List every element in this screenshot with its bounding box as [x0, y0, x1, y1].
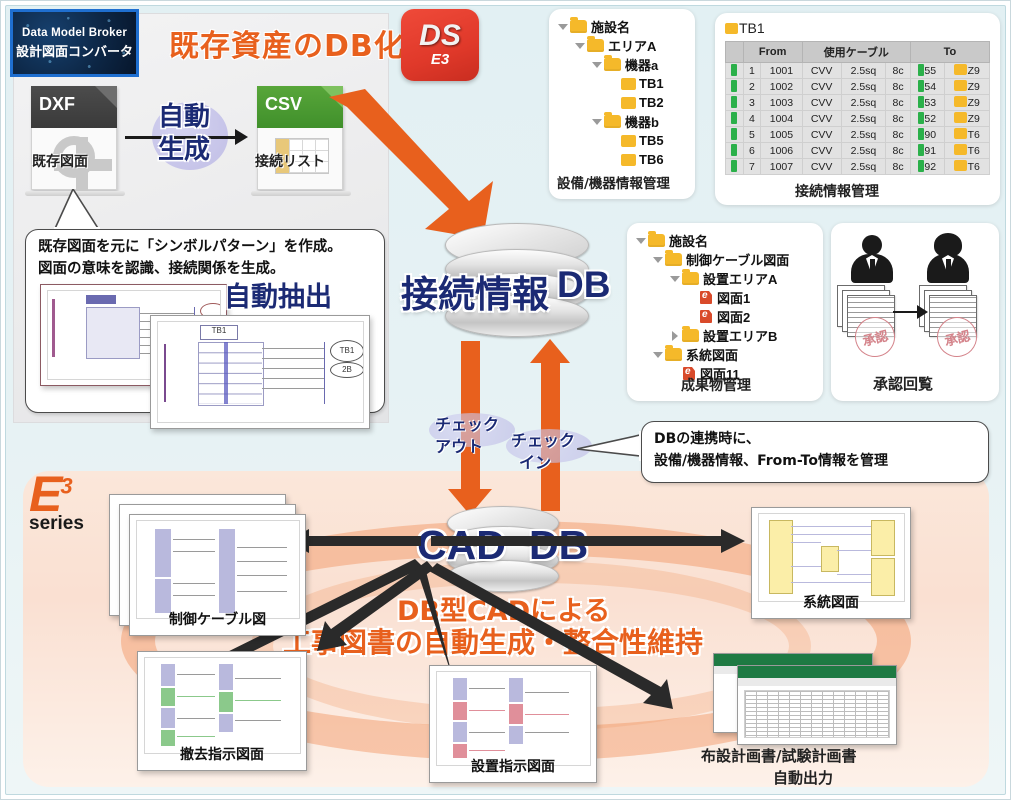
- tag-icon: [621, 135, 636, 147]
- cell-to: T6: [944, 143, 989, 159]
- checkin-arrow-head: [530, 339, 570, 363]
- connection-list-label: 接続リスト: [255, 151, 325, 171]
- tag-icon: [621, 78, 636, 90]
- folder-icon: [665, 253, 682, 266]
- system-diagram[interactable]: 系統図面: [751, 507, 911, 619]
- table-title-row: TB1: [725, 20, 765, 36]
- auto-extract-label: 自動抽出: [224, 275, 332, 314]
- person-head: [862, 235, 882, 255]
- cell-no: 4: [743, 111, 761, 127]
- table-row[interactable]: 71007CVV2.5sq8c92T6: [726, 159, 990, 175]
- tree-node-label: TB6: [639, 152, 664, 167]
- cell-to-no: 91: [910, 143, 944, 159]
- cell-to: T6: [944, 159, 989, 175]
- table-title: TB1: [739, 20, 765, 36]
- table-row[interactable]: 11001CVV2.5sq8c55Z9: [726, 63, 990, 79]
- tree-node[interactable]: 図面1: [635, 288, 789, 307]
- symbol-thumb-front: TB1 TB1 2B: [150, 315, 370, 429]
- cell-to-no: 54: [910, 79, 944, 95]
- cell-size: 2.5sq: [841, 159, 886, 175]
- status-chip: [918, 144, 924, 156]
- folder-icon: [587, 39, 604, 52]
- tree-node-label: 施設名: [669, 231, 708, 250]
- table-row[interactable]: 21002CVV2.5sq8c54Z9: [726, 79, 990, 95]
- equipment-tree-card: 施設名エリアA機器aTB1TB2機器bTB5TB6 設備/機器情報管理: [549, 9, 695, 199]
- cell-from: 1007: [761, 159, 802, 175]
- thumb-circle-label: TB1: [330, 340, 364, 362]
- tree-node[interactable]: TB2: [557, 93, 664, 112]
- approval-flow-head: [917, 305, 928, 319]
- ds-e3-logo: DS E3: [401, 9, 479, 81]
- control-cable-drawing-label: 制御ケーブル図: [130, 609, 305, 629]
- cell-to-no: 53: [910, 95, 944, 111]
- drawing-icon: [699, 310, 713, 323]
- status-chip: [918, 160, 924, 172]
- tree-node-label: 機器a: [625, 55, 658, 74]
- cell-to-no: 52: [910, 111, 944, 127]
- dxf-file-icon: DXF: [31, 86, 117, 190]
- tree-spacer: [608, 154, 619, 165]
- cell-from: 1001: [761, 63, 802, 79]
- chevron-open-icon[interactable]: [652, 349, 663, 360]
- table-header-row: From使用ケーブルTo: [726, 42, 990, 63]
- cell-cable: CVV: [802, 159, 841, 175]
- connection-table-card: TB1 From使用ケーブルTo11001CVV2.5sq8c55Z921002…: [715, 13, 1000, 205]
- status-chip: [918, 128, 924, 140]
- status-chip: [731, 96, 737, 108]
- chevron-open-icon[interactable]: [591, 116, 602, 127]
- cell-no: 3: [743, 95, 761, 111]
- person-tie: [946, 259, 951, 272]
- folder-icon: [570, 20, 587, 33]
- callout-line-1: 既存図面を元に「シンボルパターン」を作成。: [38, 238, 342, 258]
- tree-node-label: TB1: [639, 76, 664, 91]
- removal-instruction-drawing-label: 撤去指示図面: [138, 744, 306, 764]
- status-chip: [731, 64, 737, 76]
- cell-cable: CVV: [802, 111, 841, 127]
- cell-size: 2.5sq: [841, 127, 886, 143]
- tree-node-label: TB5: [639, 133, 664, 148]
- approver-female-icon: [925, 235, 971, 283]
- tag-icon: [954, 80, 967, 91]
- cell-size: 2.5sq: [841, 79, 886, 95]
- tree-spacer: [669, 368, 680, 379]
- person-head: [938, 235, 958, 255]
- table-row[interactable]: 41004CVV2.5sq8c52Z9: [726, 111, 990, 127]
- cell-cores: 8c: [886, 127, 911, 143]
- tag-icon: [954, 96, 967, 107]
- drawing-icon: [699, 291, 713, 304]
- cell-no: 5: [743, 127, 761, 143]
- cell-cores: 8c: [886, 159, 911, 175]
- tag-icon: [954, 64, 967, 75]
- column-header: To: [910, 42, 989, 63]
- tree-node[interactable]: 機器b: [557, 112, 664, 131]
- folder-icon: [665, 348, 682, 361]
- tree-node[interactable]: 系統図面: [635, 345, 789, 364]
- tree-node-label: 系統図面: [686, 345, 738, 364]
- tree-node[interactable]: 施設名: [557, 17, 664, 36]
- equipment-tree[interactable]: 施設名エリアA機器aTB1TB2機器bTB5TB6: [557, 17, 664, 169]
- connection-info-db-label-right: DB: [557, 264, 610, 306]
- row-status-cell: [726, 63, 744, 79]
- tree-spacer: [608, 97, 619, 108]
- tree-node[interactable]: TB1: [557, 74, 664, 93]
- tree-node[interactable]: 施設名: [635, 231, 789, 250]
- callout-pointer-symbol: [51, 189, 121, 234]
- tree-node-label: 図面2: [717, 307, 750, 326]
- chevron-open-icon[interactable]: [591, 59, 602, 70]
- cell-size: 2.5sq: [841, 63, 886, 79]
- cell-to: Z9: [944, 79, 989, 95]
- ds-logo-text: DS: [419, 22, 461, 51]
- cell-to-no: 90: [910, 127, 944, 143]
- approval-caption: 承認回覧: [873, 373, 933, 394]
- auto-label-line2: 生成: [158, 129, 210, 166]
- cell-cores: 8c: [886, 111, 911, 127]
- thumb-canvas: [136, 520, 300, 619]
- existing-drawing-label: 既存図面: [32, 151, 88, 171]
- tree-node-label: TB2: [639, 95, 664, 110]
- system-diagram-label: 系統図面: [752, 592, 910, 612]
- thumb-canvas: [758, 513, 905, 602]
- cell-cable: CVV: [802, 63, 841, 79]
- tag-icon: [725, 23, 738, 34]
- tree-spacer: [608, 78, 619, 89]
- tree-node-label: 図面1: [717, 288, 750, 307]
- cell-from: 1003: [761, 95, 802, 111]
- flow-arrow-head: [235, 129, 248, 145]
- tree-node-label: 設置エリアA: [703, 269, 777, 288]
- folder-icon: [604, 58, 621, 71]
- cell-to-no: 55: [910, 63, 944, 79]
- cell-to-no: 92: [910, 159, 944, 175]
- cell-cores: 8c: [886, 63, 911, 79]
- db-callout-line2: 設備/機器情報、From-To情報を管理: [654, 452, 888, 471]
- chevron-open-icon[interactable]: [635, 235, 646, 246]
- tree-node[interactable]: 設置エリアA: [635, 269, 789, 288]
- checkout-label-line2: アウト: [435, 433, 483, 457]
- thumb-circle-sub: 2B: [330, 362, 364, 378]
- person-tie: [870, 259, 875, 272]
- status-chip: [918, 96, 924, 108]
- cell-cable: CVV: [802, 79, 841, 95]
- status-chip: [731, 80, 737, 92]
- status-chip: [731, 112, 737, 124]
- cell-to: T6: [944, 127, 989, 143]
- tree-node-label: 施設名: [591, 17, 630, 36]
- installation-instruction-drawing-label: 設置指示図面: [430, 756, 596, 776]
- folder-icon: [682, 329, 699, 342]
- status-chip: [918, 80, 924, 92]
- tag-icon: [954, 112, 967, 123]
- tag-icon: [954, 144, 967, 155]
- approval-flow-line: [893, 311, 919, 313]
- tree-spacer: [686, 311, 697, 322]
- cell-size: 2.5sq: [841, 95, 886, 111]
- checkin-label-line1: チェック: [511, 427, 575, 451]
- orange-arrow-to-db: [321, 89, 521, 239]
- cell-from: 1005: [761, 127, 802, 143]
- db-linkage-callout: DBの連携時に、 設備/機器情報、From-To情報を管理: [641, 421, 989, 483]
- symbol-pattern-callout: 既存図面を元に「シンボルパターン」を作成。 図面の意味を認識、接続関係を生成。 …: [25, 229, 385, 413]
- logo-title-en: Data Model Broker: [22, 27, 127, 39]
- cell-size: 2.5sq: [841, 143, 886, 159]
- cell-from: 1006: [761, 143, 802, 159]
- status-chip: [731, 160, 737, 172]
- cell-cable: CVV: [802, 127, 841, 143]
- row-status-cell: [726, 111, 744, 127]
- cell-cable: CVV: [802, 143, 841, 159]
- row-status-cell: [726, 159, 744, 175]
- connection-table[interactable]: From使用ケーブルTo11001CVV2.5sq8c55Z921002CVV2…: [725, 41, 990, 175]
- laying-test-plan[interactable]: [737, 665, 897, 745]
- checkin-label-line2: イン: [519, 449, 551, 473]
- control-cable-drawing[interactable]: 制御ケーブル図: [129, 514, 306, 636]
- logo-title-jp: 設計図面コンバータ: [16, 41, 133, 60]
- table-row[interactable]: 61006CVV2.5sq8c91T6: [726, 143, 990, 159]
- spreadsheet-grid: [744, 690, 890, 738]
- auto-label-line1: 自動: [158, 96, 210, 133]
- deliverable-tree-caption: 成果物管理: [681, 375, 751, 395]
- laying-test-plan-label-line2: 自動出力: [773, 767, 833, 788]
- approval-card: 承認 承認 承認回覧: [831, 223, 999, 401]
- cell-cores: 8c: [886, 79, 911, 95]
- column-header: 使用ケーブル: [802, 42, 910, 63]
- status-chip: [918, 112, 924, 124]
- row-status-cell: [726, 95, 744, 111]
- tree-node[interactable]: 制御ケーブル図面: [635, 250, 789, 269]
- cell-no: 6: [743, 143, 761, 159]
- cell-cable: CVV: [802, 95, 841, 111]
- row-status-cell: [726, 127, 744, 143]
- cell-to: Z9: [944, 95, 989, 111]
- thumb-tb-label: TB1: [200, 325, 238, 340]
- chevron-open-icon[interactable]: [652, 254, 663, 265]
- tree-node-label: 機器b: [625, 112, 659, 131]
- table-row[interactable]: 51005CVV2.5sq8c90T6: [726, 127, 990, 143]
- cell-no: 2: [743, 79, 761, 95]
- dxf-label: DXF: [39, 94, 75, 115]
- chevron-closed-icon[interactable]: [669, 330, 680, 341]
- cell-size: 2.5sq: [841, 111, 886, 127]
- cell-from: 1002: [761, 79, 802, 95]
- cell-cores: 8c: [886, 95, 911, 111]
- removal-instruction-drawing[interactable]: 撤去指示図面: [137, 651, 307, 771]
- connection-info-db-label-left: 接続情報: [401, 264, 549, 318]
- connection-table-caption: 接続情報管理: [795, 181, 879, 201]
- chevron-open-icon[interactable]: [557, 21, 568, 32]
- deliverable-tree-card: 施設名制御ケーブル図面設置エリアA図面1図面2設置エリアB系統図面図面11 成果…: [627, 223, 823, 401]
- tag-icon: [954, 128, 967, 139]
- tree-spacer: [686, 292, 697, 303]
- db-callout-line1: DBの連携時に、: [654, 430, 760, 449]
- tag-icon: [621, 97, 636, 109]
- tree-node[interactable]: エリアA: [557, 36, 664, 55]
- status-chip: [918, 64, 924, 76]
- laying-test-plan-label-line1: 布設計画書/試験計画書: [701, 745, 856, 766]
- thumb-canvas: [436, 671, 591, 766]
- chevron-open-icon[interactable]: [574, 40, 585, 51]
- folder-icon: [604, 115, 621, 128]
- column-header: [726, 42, 744, 63]
- status-chip: [731, 144, 737, 156]
- status-chip: [731, 128, 737, 140]
- installation-instruction-drawing[interactable]: 設置指示図面: [429, 665, 597, 783]
- tree-spacer: [608, 135, 619, 146]
- tree-node-label: 制御ケーブル図面: [686, 250, 789, 269]
- page-title: 既存資産のDB化: [169, 21, 405, 65]
- cell-to: Z9: [944, 111, 989, 127]
- csv-label: CSV: [265, 94, 302, 115]
- deliverable-tree[interactable]: 施設名制御ケーブル図面設置エリアA図面1図面2設置エリアB系統図面図面11: [635, 231, 789, 383]
- cell-cores: 8c: [886, 143, 911, 159]
- folder-icon: [682, 272, 699, 285]
- approver-male-icon: [849, 235, 895, 283]
- tree-node[interactable]: TB5: [557, 131, 664, 150]
- column-header: From: [743, 42, 802, 63]
- row-status-cell: [726, 143, 744, 159]
- tree-node-label: 設置エリアB: [703, 326, 777, 345]
- checkout-label-line1: チェック: [435, 411, 499, 435]
- tree-node[interactable]: 機器a: [557, 55, 664, 74]
- tree-node[interactable]: 図面2: [635, 307, 789, 326]
- tag-icon: [954, 160, 967, 171]
- cell-to: Z9: [944, 63, 989, 79]
- thumb-canvas: [144, 657, 301, 754]
- cell-no: 7: [743, 159, 761, 175]
- tree-node[interactable]: TB6: [557, 150, 664, 169]
- diagram-canvas: Data Model Broker 設計図面コンバータ 既存資産のDB化 DS …: [0, 0, 1011, 800]
- row-status-cell: [726, 79, 744, 95]
- e3-logo-text: E3: [431, 51, 449, 68]
- folder-icon: [648, 234, 665, 247]
- tag-icon: [621, 154, 636, 166]
- equipment-tree-caption: 設備/機器情報管理: [557, 172, 670, 192]
- data-model-broker-logo: Data Model Broker 設計図面コンバータ: [10, 9, 139, 77]
- cell-from: 1004: [761, 111, 802, 127]
- chevron-open-icon[interactable]: [669, 273, 680, 284]
- tree-node-label: エリアA: [608, 36, 656, 55]
- thumb-canvas: TB1 TB1 2B: [157, 321, 364, 423]
- tree-node[interactable]: 設置エリアB: [635, 326, 789, 345]
- cell-no: 1: [743, 63, 761, 79]
- table-row[interactable]: 31003CVV2.5sq8c53Z9: [726, 95, 990, 111]
